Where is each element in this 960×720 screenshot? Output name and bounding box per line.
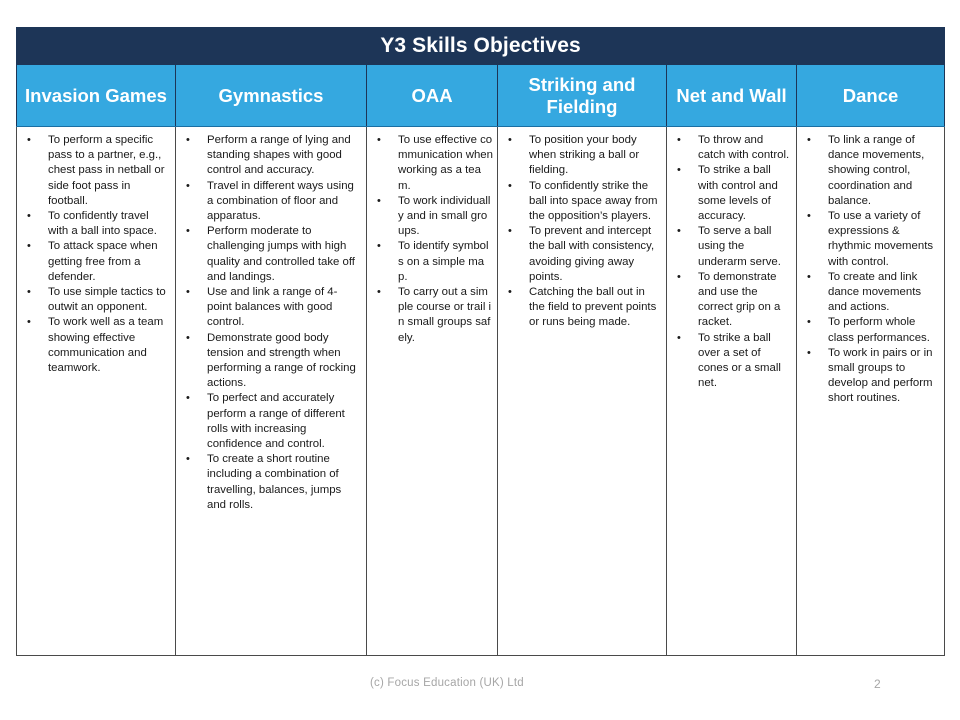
column-header-striking-and-fielding: Striking and Fielding [498, 65, 667, 127]
page-title: Y3 Skills Objectives [17, 28, 945, 65]
objective-item: To create and link dance movements and a… [799, 270, 940, 316]
slide-footer: (c) Focus Education (UK) Ltd 2 [0, 677, 960, 699]
objective-item: Perform moderate to challenging jumps wi… [178, 224, 362, 285]
table-body-row: To perform a specific pass to a partner,… [17, 127, 945, 656]
objective-item: To create a short routine including a co… [178, 452, 362, 513]
objective-item: To throw and catch with control. [669, 133, 792, 163]
objective-item: Perform a range of lying and standing sh… [178, 133, 362, 179]
objective-item: To perform a specific pass to a partner,… [19, 133, 171, 209]
objective-list-net-and-wall: To throw and catch with control.To strik… [669, 133, 794, 391]
cell-invasion-games: To perform a specific pass to a partner,… [17, 127, 176, 656]
objective-item: To strike a ball over a set of cones or … [669, 331, 792, 392]
objective-item: To confidently travel with a ball into s… [19, 209, 171, 239]
skills-objectives-table: Y3 Skills Objectives Invasion Games Gymn… [16, 27, 945, 656]
objective-item: To identify symbols on a simple map. [369, 239, 493, 285]
column-header-gymnastics: Gymnastics [176, 65, 367, 127]
objective-item: To serve a ball using the underarm serve… [669, 224, 792, 270]
column-header-oaa: OAA [367, 65, 498, 127]
cell-net-and-wall: To throw and catch with control.To strik… [667, 127, 797, 656]
slide-canvas: Y3 Skills Objectives Invasion Games Gymn… [0, 0, 960, 720]
objective-item: To strike a ball with control and some l… [669, 163, 792, 224]
objective-item: To confidently strike the ball into spac… [500, 179, 662, 225]
cell-dance: To link a range of dance movements, show… [797, 127, 945, 656]
objective-item: To work well as a team showing effective… [19, 315, 171, 376]
objective-item: To position your body when striking a ba… [500, 133, 662, 179]
objective-item: To link a range of dance movements, show… [799, 133, 940, 209]
objective-item: To carry out a simple course or trail in… [369, 285, 493, 346]
objective-list-oaa: To use effective communication when work… [369, 133, 495, 346]
objective-item: To use a variety of expressions & rhythm… [799, 209, 940, 270]
cell-gymnastics: Perform a range of lying and standing sh… [176, 127, 367, 656]
objective-item: Travel in different ways using a combina… [178, 179, 362, 225]
objective-item: Catching the ball out in the field to pr… [500, 285, 662, 331]
objective-item: Use and link a range of 4-point balances… [178, 285, 362, 331]
objective-item: To use simple tactics to outwit an oppon… [19, 285, 171, 315]
table-header-row: Invasion Games Gymnastics OAA Striking a… [17, 65, 945, 127]
objective-list-gymnastics: Perform a range of lying and standing sh… [178, 133, 364, 513]
objective-item: To perfect and accurately perform a rang… [178, 391, 362, 452]
column-header-invasion-games: Invasion Games [17, 65, 176, 127]
objective-item: To prevent and intercept the ball with c… [500, 224, 662, 285]
column-header-net-and-wall: Net and Wall [667, 65, 797, 127]
copyright-text: (c) Focus Education (UK) Ltd [370, 677, 524, 689]
objective-list-dance: To link a range of dance movements, show… [799, 133, 942, 407]
objective-item: To use effective communication when work… [369, 133, 493, 194]
cell-oaa: To use effective communication when work… [367, 127, 498, 656]
objective-item: To perform whole class performances. [799, 315, 940, 345]
objective-item: To attack space when getting free from a… [19, 239, 171, 285]
cell-striking-and-fielding: To position your body when striking a ba… [498, 127, 667, 656]
objective-item: To demonstrate and use the correct grip … [669, 270, 792, 331]
objective-list-invasion-games: To perform a specific pass to a partner,… [19, 133, 173, 376]
objective-list-striking-and-fielding: To position your body when striking a ba… [500, 133, 664, 331]
column-header-dance: Dance [797, 65, 945, 127]
objective-item: To work individually and in small groups… [369, 194, 493, 240]
objective-item: To work in pairs or in small groups to d… [799, 346, 940, 407]
page-number: 2 [874, 677, 881, 691]
objective-item: Demonstrate good body tension and streng… [178, 331, 362, 392]
table-title-row: Y3 Skills Objectives [17, 28, 945, 65]
